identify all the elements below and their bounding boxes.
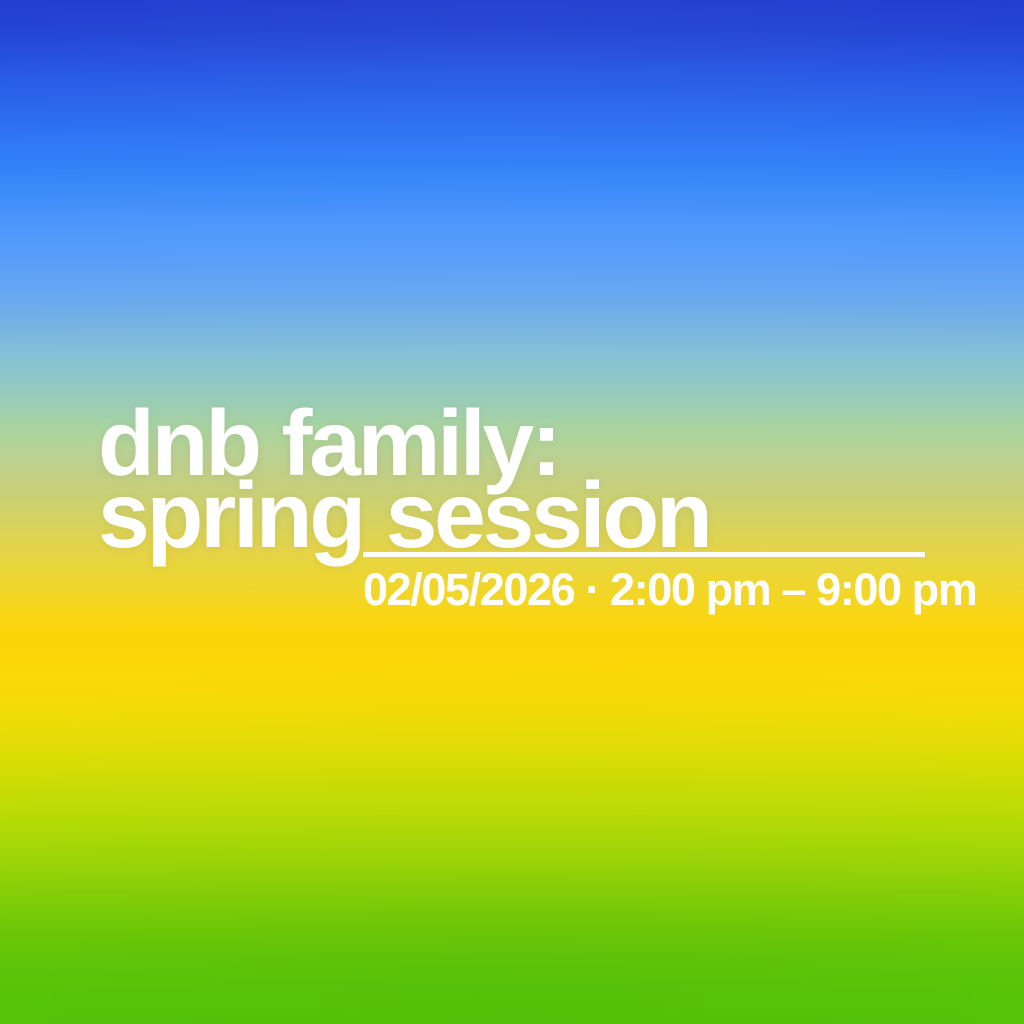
event-datetime-text: 02/05/2026 · 2:00 pm – 9:00 pm: [363, 564, 925, 616]
horizontal-rule-divider: [363, 552, 925, 557]
poster-content: dnb family: spring session 02/05/2026 · …: [0, 0, 1024, 1024]
poster-meta-block: 02/05/2026 · 2:00 pm – 9:00 pm: [363, 552, 925, 616]
poster-title-line-2: spring session: [98, 470, 710, 560]
event-poster: dnb family: spring session 02/05/2026 · …: [0, 0, 1024, 1024]
